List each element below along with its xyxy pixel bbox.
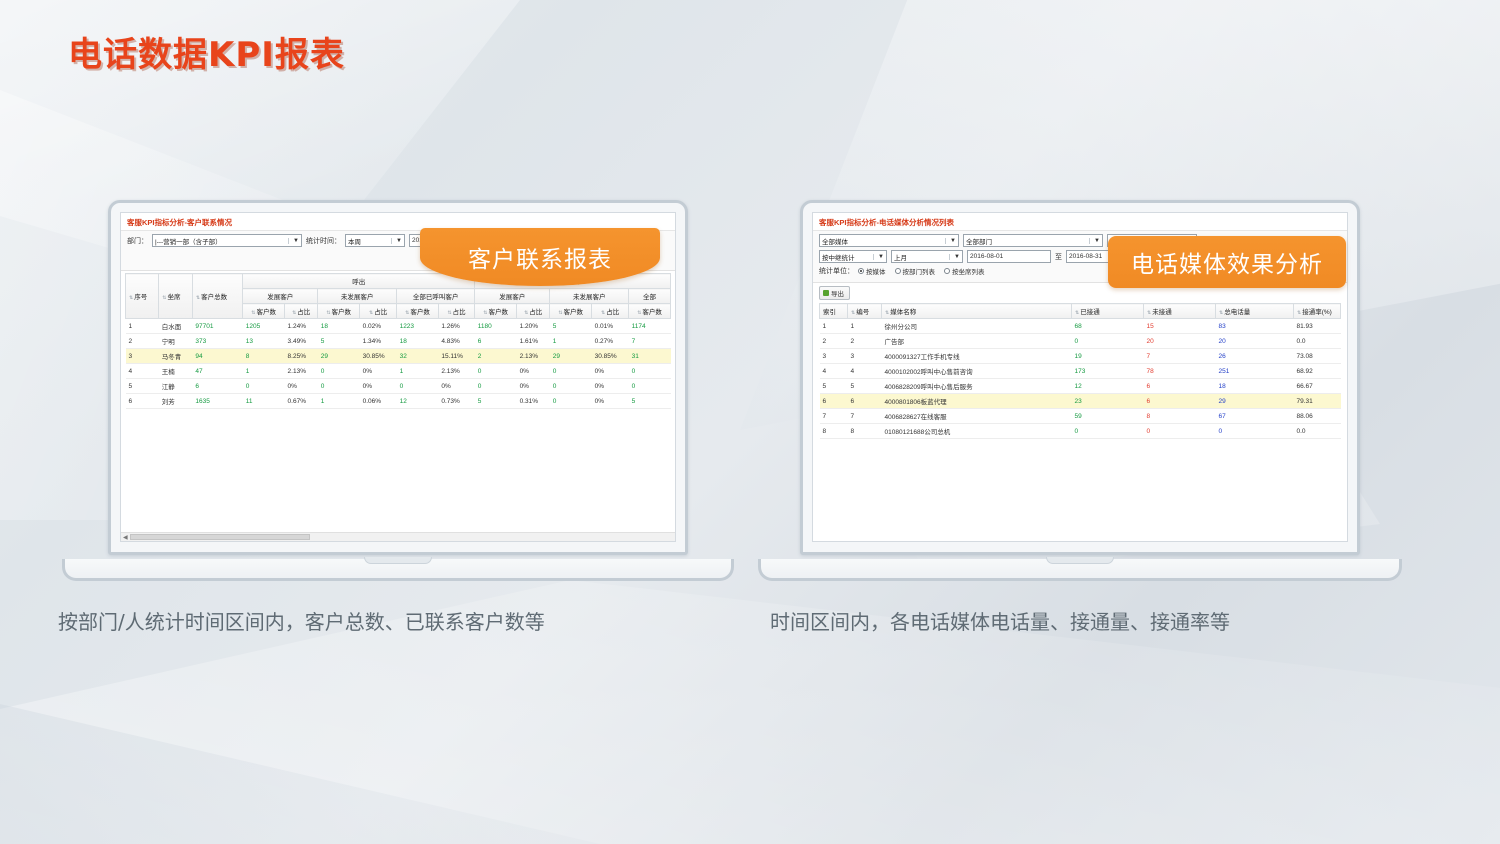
radio-by-agent[interactable]: 按坐席列表 [944,266,985,276]
cell-metric: 5 [318,334,360,349]
cell-rate: 0.0 [1294,424,1341,439]
cell-metric: 0 [550,394,592,409]
cell-index: 1 [126,319,159,334]
laptop-notch [364,557,432,564]
cell-metric: 1.34% [360,334,397,349]
cell-total-calls: 26 [1216,349,1294,364]
export-icon [823,290,829,296]
cell-connected: 0 [1072,424,1144,439]
cell-rate: 81.93 [1294,319,1341,334]
cell-rate: 73.08 [1294,349,1341,364]
dept-select[interactable]: |---营销一部（含子部） ▼ [152,234,302,247]
cell-agent: 白水面 [159,319,193,334]
th-subgroup: 全部 [629,289,671,304]
chevron-down-icon: ▼ [391,238,402,244]
cell-metric: 0 [318,364,360,379]
cell-total-calls: 20 [1216,334,1294,349]
cell-metric: 1180 [475,319,517,334]
cell-missed: 8 [1144,409,1216,424]
cell-total: 47 [192,364,242,379]
cell-metric: 7 [629,334,671,349]
cell-metric: 0% [285,379,318,394]
chevron-down-icon: ▼ [945,238,956,244]
cell-metric: 8 [243,349,285,364]
cell-missed: 15 [1144,319,1216,334]
cell-metric: 6 [475,334,517,349]
cell-no: 7 [848,409,882,424]
cell-metric: 1 [550,334,592,349]
cell-agent: 江静 [159,379,193,394]
cell-media-name: 01080121688公司总机 [882,424,1072,439]
cell-connected: 59 [1072,409,1144,424]
cell-total: 97701 [192,319,242,334]
cell-metric: 1.26% [438,319,474,334]
cell-metric: 0 [629,364,671,379]
cell-index: 5 [126,379,159,394]
cell-missed: 0 [1144,424,1216,439]
cell-index: 2 [820,334,848,349]
cell-metric: 5 [629,394,671,409]
period-select-value: 上月 [894,252,907,262]
cell-metric: 0 [318,379,360,394]
background-facet [0,544,1500,844]
chevron-down-icon: ▼ [288,238,299,244]
export-button[interactable]: 导出 [819,286,850,300]
cell-metric: 2.13% [517,349,550,364]
cell-total-calls: 83 [1216,319,1294,334]
table-header-row: 索引⇅编号⇅媒体名称⇅已接通⇅未接通⇅总电话量⇅接通率(%) [820,304,1341,319]
chevron-down-icon: ▼ [873,254,884,260]
dept-select-value: 全部部门 [966,236,992,246]
radio-by-media[interactable]: 按媒体 [858,266,886,276]
cell-metric: 0% [360,379,397,394]
customer-contact-table: ⇅序号 ⇅坐席 ⇅客户总数 呼出 呼入 发展客户未发展客户全部已呼叫客户发展客户… [125,273,671,409]
cell-media-name: 广告部 [882,334,1072,349]
cell-metric: 1 [243,364,285,379]
right-banner: 电话媒体效果分析 [1108,236,1346,288]
th-6[interactable]: ⇅接通率(%) [1294,304,1341,319]
cell-rate: 68.92 [1294,364,1341,379]
cell-no: 6 [848,394,882,409]
cell-metric: 4.83% [438,334,474,349]
cell-metric: 2.13% [438,364,474,379]
table-row[interactable]: 774006828627在线客服5986788.06 [820,409,1341,424]
cell-agent: 宁明 [159,334,193,349]
cell-connected: 173 [1072,364,1144,379]
period-select-value: 本周 [348,236,361,246]
cell-rate: 88.06 [1294,409,1341,424]
th-subgroup: 发展客户 [243,289,318,304]
cell-rate: 66.67 [1294,379,1341,394]
cell-metric: 5 [475,394,517,409]
cell-media-name: 4006828209呼叫中心售后服务 [882,379,1072,394]
table-row[interactable]: 444000102002呼叫中心售前咨询1737825168.92 [820,364,1341,379]
unit-label: 统计单位： [819,266,854,276]
cell-agent: 王楠 [159,364,193,379]
cell-metric: 1 [397,364,439,379]
th-2[interactable]: ⇅媒体名称 [882,304,1072,319]
cell-metric: 0.67% [285,394,318,409]
cell-total: 373 [192,334,242,349]
cell-metric: 1.20% [517,319,550,334]
cell-metric: 1174 [629,319,671,334]
cell-connected: 23 [1072,394,1144,409]
cell-metric: 15.11% [438,349,474,364]
cell-no: 8 [848,424,882,439]
cell-total-calls: 18 [1216,379,1294,394]
cell-connected: 12 [1072,379,1144,394]
radio-by-department-label: 按部门列表 [903,266,936,276]
cell-metric: 0.73% [438,394,474,409]
table-row[interactable]: 334000091327工作手机专线1972673.08 [820,349,1341,364]
cell-index: 3 [820,349,848,364]
th-leaf[interactable]: ⇅客户数 [629,304,671,319]
cell-no: 3 [848,349,882,364]
left-table-body: 1白水面9770112051.24%180.02%12231.26%11801.… [126,319,671,409]
cell-index: 1 [820,319,848,334]
th-leaf[interactable]: ⇅占比 [517,304,550,319]
cell-total-calls: 29 [1216,394,1294,409]
cell-index: 7 [820,409,848,424]
right-table-wrap: 索引⇅编号⇅媒体名称⇅已接通⇅未接通⇅总电话量⇅接通率(%) 11徐州分公司68… [813,303,1347,439]
cell-no: 2 [848,334,882,349]
th-leaf[interactable]: ⇅客户数 [397,304,439,319]
th-1[interactable]: ⇅编号 [848,304,882,319]
th-subgroup: 发展客户 [475,289,550,304]
th-leaf[interactable]: ⇅客户数 [318,304,360,319]
cell-media-name: 徐州分公司 [882,319,1072,334]
date-from-value: 2016-08-01 [970,253,1003,260]
cell-no: 5 [848,379,882,394]
cell-metric: 1.61% [517,334,550,349]
cell-metric: 0.02% [360,319,397,334]
cell-metric: 0.31% [517,394,550,409]
cell-metric: 5 [550,319,592,334]
cell-metric: 0 [475,364,517,379]
left-laptop-base [62,559,734,581]
th-group-outgoing: 呼出 [243,274,475,289]
cell-metric: 0% [360,364,397,379]
cell-metric: 0% [592,394,629,409]
cell-index: 6 [126,394,159,409]
cell-missed: 6 [1144,379,1216,394]
cell-total: 94 [192,349,242,364]
table-row[interactable]: 664000801806板蓝代理2362979.31 [820,394,1341,409]
period-select[interactable]: 本周 ▼ [345,234,405,247]
export-label: 导出 [831,288,844,298]
cell-metric: 11 [243,394,285,409]
cell-agent: 刘芳 [159,394,193,409]
cell-metric: 13 [243,334,285,349]
th-leaf[interactable]: ⇅客户数 [243,304,285,319]
th-subgroup: 未发展客户 [550,289,629,304]
th-total-customers[interactable]: ⇅客户总数 [192,274,242,319]
cell-media-name: 4000091327工作手机专线 [882,349,1072,364]
cell-metric: 1205 [243,319,285,334]
table-row[interactable]: 5江静600%00%00%00%00%0 [126,379,671,394]
cell-index: 5 [820,379,848,394]
th-subgroup: 全部已呼叫客户 [397,289,475,304]
table-row[interactable]: 22广告部020200.0 [820,334,1341,349]
cell-no: 4 [848,364,882,379]
cell-metric: 12 [397,394,439,409]
right-laptop-base [758,559,1402,581]
cell-metric: 3.49% [285,334,318,349]
th-4[interactable]: ⇅未接通 [1144,304,1216,319]
left-banner: 客户联系报表 [420,228,660,286]
th-index[interactable]: ⇅序号 [126,274,159,319]
laptop-notch [1046,557,1114,564]
right-table-body: 11徐州分公司68158381.9322广告部020200.0334000091… [820,319,1341,439]
period-select[interactable]: 上月 ▼ [891,250,963,263]
right-caption: 时间区间内，各电话媒体电话量、接通量、接通率等 [770,606,1230,635]
table-row[interactable]: 4王楠4712.13%00%12.13%00%00%0 [126,364,671,379]
page-title: 电话数据KPI报表 [68,27,345,76]
cell-metric: 0.06% [360,394,397,409]
date-to-value: 2016-08-31 [1069,253,1102,260]
cell-missed: 7 [1144,349,1216,364]
th-leaf[interactable]: ⇅占比 [592,304,629,319]
media-select[interactable]: 全部媒体 ▼ [819,234,959,247]
cell-missed: 6 [1144,394,1216,409]
cell-missed: 20 [1144,334,1216,349]
table-row[interactable]: 1白水面9770112051.24%180.02%12231.26%11801.… [126,319,671,334]
cell-total-calls: 67 [1216,409,1294,424]
media-select-value: 全部媒体 [822,236,848,246]
cell-metric: 0 [475,379,517,394]
radio-by-media-label: 按媒体 [866,266,886,276]
radio-icon [944,268,950,274]
cell-agent: 马冬青 [159,349,193,364]
dept-select-value: |---营销一部（含子部） [155,236,222,246]
table-row[interactable]: 554006828209呼叫中心售后服务1261866.67 [820,379,1341,394]
stat-mode-value: 按中继统计 [822,252,855,262]
table-row[interactable]: 11徐州分公司68158381.93 [820,319,1341,334]
cell-metric: 0.27% [592,334,629,349]
th-leaf[interactable]: ⇅客户数 [475,304,517,319]
cell-metric: 18 [318,319,360,334]
th-3[interactable]: ⇅已接通 [1072,304,1144,319]
chevron-down-icon: ▼ [949,254,960,260]
cell-metric: 30.85% [360,349,397,364]
cell-index: 6 [820,394,848,409]
cell-index: 4 [126,364,159,379]
scroll-thumb[interactable] [130,534,310,540]
cell-metric: 1223 [397,319,439,334]
table-row[interactable]: 3马冬青9488.25%2930.85%3215.11%22.13%2930.8… [126,349,671,364]
cell-metric: 1.24% [285,319,318,334]
period-label: 统计时间： [306,236,341,246]
cell-total: 1635 [192,394,242,409]
cell-metric: 18 [397,334,439,349]
media-analysis-table: 索引⇅编号⇅媒体名称⇅已接通⇅未接通⇅总电话量⇅接通率(%) 11徐州分公司68… [819,303,1341,439]
cell-metric: 0 [550,379,592,394]
cell-media-name: 4000102002呼叫中心售前咨询 [882,364,1072,379]
dept-label: 部门： [127,236,148,246]
cell-connected: 0 [1072,334,1144,349]
left-caption: 按部门/人统计时间区间内，客户总数、已联系客户数等 [58,606,545,635]
cell-metric: 31 [629,349,671,364]
cell-index: 2 [126,334,159,349]
cell-metric: 0% [517,364,550,379]
cell-metric: 0 [629,379,671,394]
th-leaf[interactable]: ⇅占比 [285,304,318,319]
radio-by-department[interactable]: 按部门列表 [895,266,936,276]
th-agent[interactable]: ⇅坐席 [159,274,193,319]
cell-metric: 0.01% [592,319,629,334]
radio-icon [858,268,864,274]
background-facet [0,644,600,844]
cell-total: 6 [192,379,242,394]
th-leaf[interactable]: ⇅占比 [360,304,397,319]
cell-total-calls: 251 [1216,364,1294,379]
cell-metric: 0% [517,379,550,394]
cell-rate: 0.0 [1294,334,1341,349]
cell-metric: 0% [438,379,474,394]
th-0[interactable]: 索引 [820,304,848,319]
th-subgroup: 未发展客户 [318,289,397,304]
cell-metric: 29 [550,349,592,364]
cell-media-name: 4006828627在线客服 [882,409,1072,424]
right-app-title: 客服KPI指标分析-电话媒体分析情况列表 [813,213,1347,231]
left-horizontal-scrollbar[interactable]: ◀ [121,532,675,541]
cell-metric: 1 [318,394,360,409]
cell-index: 4 [820,364,848,379]
cell-metric: 2.13% [285,364,318,379]
cell-rate: 79.31 [1294,394,1341,409]
cell-metric: 0 [550,364,592,379]
date-from-input[interactable]: 2016-08-01 [967,250,1051,263]
cell-metric: 30.85% [592,349,629,364]
cell-media-name: 4000801806板蓝代理 [882,394,1072,409]
radio-icon [895,268,901,274]
cell-metric: 8.25% [285,349,318,364]
cell-metric: 0 [397,379,439,394]
cell-connected: 19 [1072,349,1144,364]
cell-total-calls: 0 [1216,424,1294,439]
cell-no: 1 [848,319,882,334]
table-row[interactable]: 6刘芳1635110.67%10.06%120.73%50.31%00%5 [126,394,671,409]
date-range-separator: 至 [1055,252,1062,262]
table-row[interactable]: 2宁明373133.49%51.34%184.83%61.61%10.27%7 [126,334,671,349]
table-row[interactable]: 8801080121688公司总机0000.0 [820,424,1341,439]
th-5[interactable]: ⇅总电话量 [1216,304,1294,319]
radio-by-agent-label: 按坐席列表 [952,266,985,276]
cell-metric: 0% [592,379,629,394]
cell-metric: 0 [243,379,285,394]
cell-metric: 29 [318,349,360,364]
chevron-down-icon: ▼ [1089,238,1100,244]
dept-select[interactable]: 全部部门 ▼ [963,234,1103,247]
cell-metric: 2 [475,349,517,364]
cell-index: 3 [126,349,159,364]
cell-index: 8 [820,424,848,439]
th-leaf[interactable]: ⇅客户数 [550,304,592,319]
th-leaf[interactable]: ⇅占比 [438,304,474,319]
cell-missed: 78 [1144,364,1216,379]
cell-connected: 68 [1072,319,1144,334]
scroll-left-icon[interactable]: ◀ [123,534,128,541]
stat-mode-select[interactable]: 按中继统计 ▼ [819,250,887,263]
cell-metric: 32 [397,349,439,364]
cell-metric: 0% [592,364,629,379]
left-table-wrap: ⇅序号 ⇅坐席 ⇅客户总数 呼出 呼入 发展客户未发展客户全部已呼叫客户发展客户… [121,271,675,411]
